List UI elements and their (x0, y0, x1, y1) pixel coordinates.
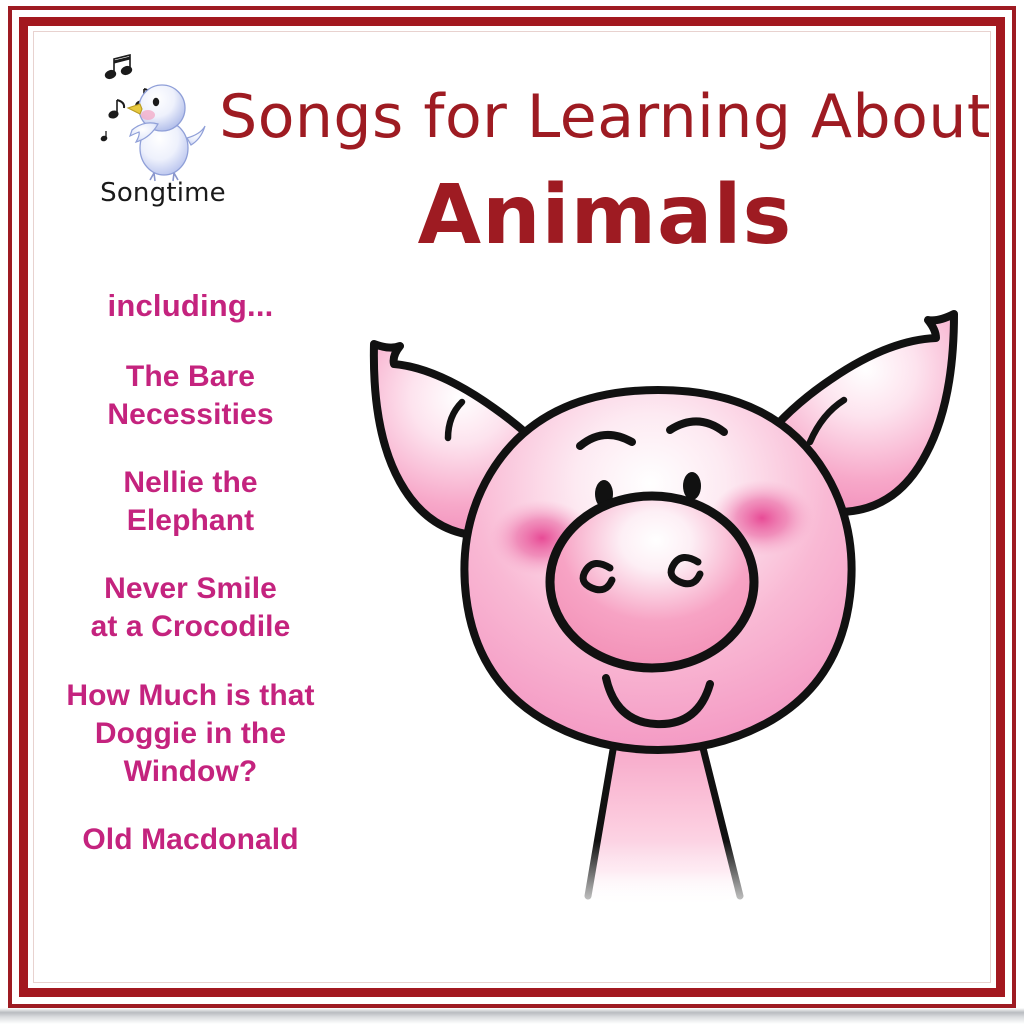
pig-snout (550, 496, 754, 668)
bottom-sheen-strip (0, 1008, 1024, 1024)
pig-face-illustration (352, 296, 976, 920)
track-item-2: Nellie the Elephant (38, 464, 343, 540)
track-item-1: The Bare Necessities (38, 358, 343, 434)
track-item-3: Never Smile at a Crocodile (38, 570, 343, 646)
bird-eye (153, 98, 159, 106)
songtime-wordmark: Songtime (88, 178, 238, 208)
bird-beak (128, 104, 142, 114)
track-item-5: Old Macdonald (38, 821, 343, 859)
including-label: including... (38, 288, 343, 324)
bird-blush (141, 110, 155, 120)
pig-eye-right (683, 472, 701, 500)
album-title-line-1: Songs for Learning About (215, 82, 995, 152)
track-list: including... The Bare Necessities Nellie… (38, 288, 343, 859)
album-title-line-2: Animals (355, 168, 855, 263)
pig-neck (552, 744, 782, 920)
album-cover: Songtime Songs for Learning About Animal… (0, 0, 1024, 1024)
track-item-4: How Much is that Doggie in the Window? (38, 677, 343, 791)
